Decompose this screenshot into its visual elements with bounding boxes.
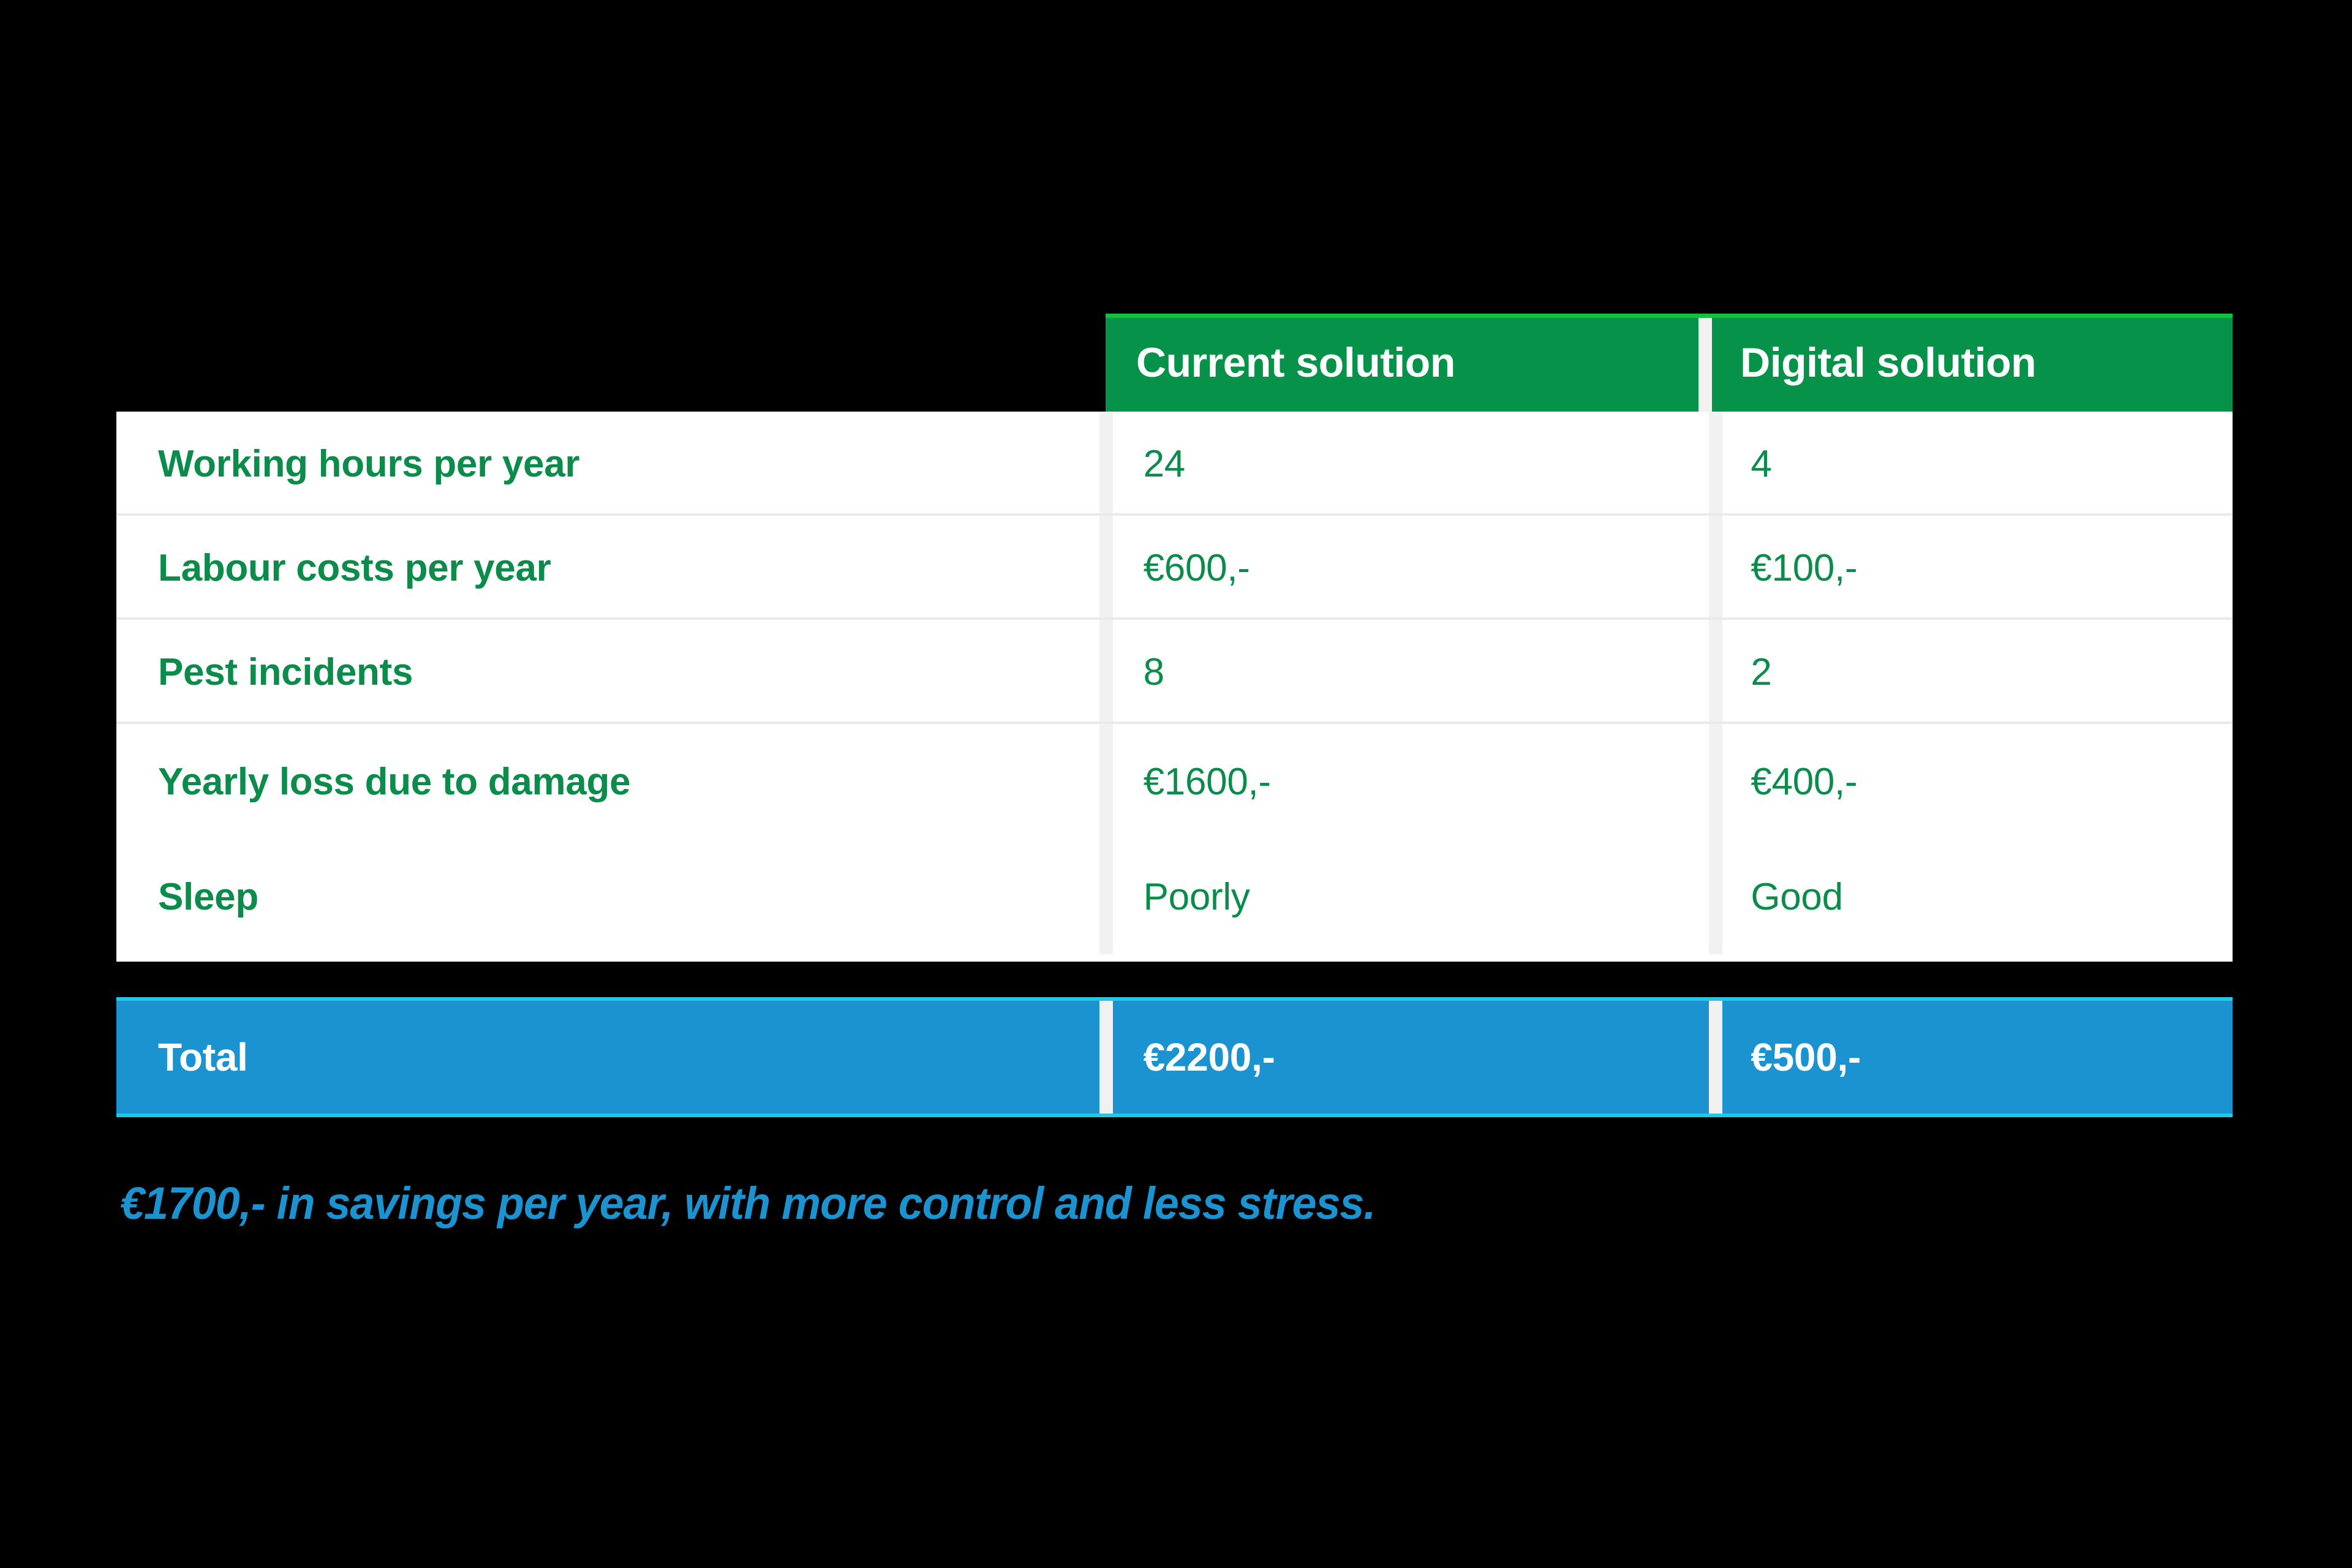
- column-divider: [1709, 516, 1722, 620]
- row-current-value: €1600,-: [1144, 760, 1271, 804]
- column-divider: [1099, 724, 1113, 839]
- row-digital-cell: €100,-: [1722, 516, 2233, 620]
- row-digital-cell: Good: [1722, 839, 2233, 954]
- table-header-row: Current solution Digital solution: [1106, 314, 2233, 412]
- column-divider: [1709, 839, 1722, 954]
- column-divider: [1099, 412, 1113, 516]
- table-row: Pest incidents 8 2: [116, 620, 2233, 724]
- row-current-cell: 24: [1113, 412, 1709, 516]
- savings-caption: €1700,- in savings per year, with more c…: [120, 1166, 2080, 1240]
- total-column-divider: [1709, 997, 1722, 1117]
- row-digital-value: €100,-: [1751, 546, 1857, 590]
- row-current-cell: 8: [1113, 620, 1709, 724]
- table-body: Working hours per year 24 4 Labour costs…: [116, 412, 2233, 962]
- row-label-cell: Working hours per year: [116, 412, 1099, 516]
- row-digital-cell: 4: [1722, 412, 2233, 516]
- row-label-cell: Pest incidents: [116, 620, 1099, 724]
- total-current-value: €2200,-: [1144, 1035, 1275, 1080]
- column-divider: [1709, 724, 1722, 839]
- column-header-current-solution-label: Current solution: [1136, 339, 1455, 386]
- column-header-digital-solution: Digital solution: [1712, 314, 2233, 412]
- column-header-current-solution: Current solution: [1106, 314, 1698, 412]
- row-current-cell: €600,-: [1113, 516, 1709, 620]
- table-row: Sleep Poorly Good: [116, 839, 2233, 954]
- row-digital-value: €400,-: [1751, 760, 1857, 804]
- total-column-divider: [1099, 997, 1113, 1117]
- row-current-cell: €1600,-: [1113, 724, 1709, 839]
- row-label: Sleep: [158, 875, 258, 919]
- row-digital-value: 2: [1751, 650, 1771, 694]
- total-digital-value: €500,-: [1751, 1035, 1861, 1080]
- row-current-value: €600,-: [1144, 546, 1250, 590]
- total-current-cell: €2200,-: [1113, 997, 1709, 1117]
- table-row: Labour costs per year €600,- €100,-: [116, 516, 2233, 620]
- column-divider: [1099, 839, 1113, 954]
- column-divider: [1709, 412, 1722, 516]
- row-label-cell: Yearly loss due to damage: [116, 724, 1099, 839]
- column-divider: [1099, 516, 1113, 620]
- row-current-value: Poorly: [1144, 875, 1250, 919]
- column-header-digital-solution-label: Digital solution: [1740, 339, 2036, 386]
- savings-caption-text: €1700,- in savings per year, with more c…: [120, 1177, 1375, 1229]
- total-digital-cell: €500,-: [1722, 997, 2233, 1117]
- row-current-value: 24: [1144, 442, 1185, 486]
- table-row: Working hours per year 24 4: [116, 412, 2233, 516]
- total-label: Total: [158, 1035, 248, 1080]
- row-label: Pest incidents: [158, 650, 413, 694]
- row-label: Working hours per year: [158, 442, 579, 486]
- column-divider: [1709, 620, 1722, 724]
- row-digital-value: Good: [1751, 875, 1842, 919]
- row-current-cell: Poorly: [1113, 839, 1709, 954]
- table-total-row: Total €2200,- €500,-: [116, 997, 2233, 1117]
- comparison-table-slide: Current solution Digital solution Workin…: [0, 0, 2352, 1568]
- row-digital-cell: 2: [1722, 620, 2233, 724]
- total-label-cell: Total: [116, 997, 1099, 1117]
- header-column-divider: [1698, 314, 1712, 412]
- row-label-cell: Sleep: [116, 839, 1099, 954]
- column-divider: [1099, 620, 1113, 724]
- row-label-cell: Labour costs per year: [116, 516, 1099, 620]
- row-digital-cell: €400,-: [1722, 724, 2233, 839]
- row-label: Labour costs per year: [158, 546, 551, 590]
- row-current-value: 8: [1144, 650, 1164, 694]
- table-row: Yearly loss due to damage €1600,- €400,-: [116, 724, 2233, 839]
- row-label: Yearly loss due to damage: [158, 760, 630, 804]
- row-digital-value: 4: [1751, 442, 1771, 486]
